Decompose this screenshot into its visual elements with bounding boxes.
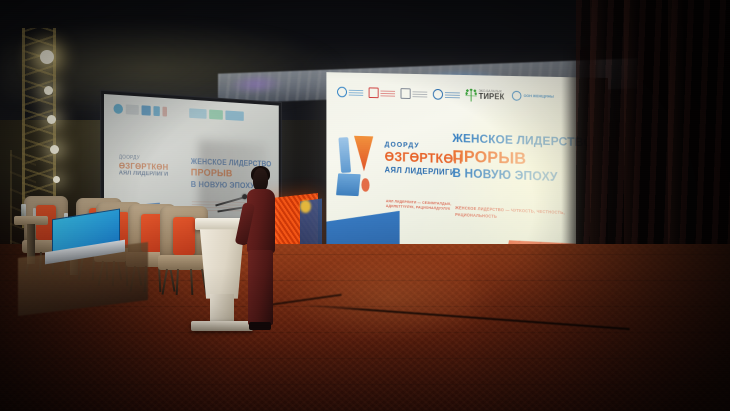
tirek-leaf-icon [465,89,476,102]
partner-grey-logo [401,88,428,99]
drape-violet-light [226,71,286,97]
stage-light-1 [40,50,54,64]
projected-logos-row [114,101,271,126]
banner-russian-slogan: ЖЕНСКОЕ ЛИДЕРСТВО — ЧУТКОСТЬ, ЧЕСТНОСТЬ,… [455,206,570,224]
stage-light-5 [53,176,60,183]
banner-kyrgyz-headline: ДООРДУ ӨЗГӨРТКӨН АЯЛ ЛИДЕРЛИГИ [385,141,457,177]
partner-red-logo [369,87,395,98]
un-women-logo: ООН ЖЕНЩИНЫ [512,91,554,102]
stage-light-4 [50,145,59,154]
projected-logo-fao [189,108,206,119]
projected-kyrgyz-block: ДООРДУ ӨЗГӨРТКӨН АЯЛ ЛИДЕРЛИГИ [119,155,188,179]
projected-logo-red [163,107,167,117]
fao-logo [433,89,460,100]
un-emblem-logo [337,86,363,97]
stage-light-3 [47,115,56,124]
projected-logo-un [114,104,123,115]
projected-logo-un-women [225,111,243,122]
projected-kg-line3: АЯЛ ЛИДЕРЛИГИ [119,170,188,178]
projected-logo-small [153,106,159,116]
projected-logo-blue-square [142,105,151,116]
tirek-label: ТИРЕК [479,93,505,101]
stage-light-2 [44,86,53,95]
un-women-label: ООН ЖЕНЩИНЫ [524,94,554,99]
banner-kyrgyz-slogan: АЯЛ ЛИДЕРЛИГИ — СЕЗИМТАЛДЫК, АДИЛЕТТҮҮЛҮ… [386,199,452,212]
tirek-logo: ЭКО-БАЛАЛЫК ТИРЕК [465,89,504,103]
conference-hall-photo: ДООРДУ ӨЗГӨРТКӨН АЯЛ ЛИДЕРЛИГИ ЖЕНСКОЕ Л… [0,0,730,411]
projected-logo-partner-grey [126,104,139,115]
speaker-at-podium [244,168,278,328]
projected-logo-tirek [209,110,223,120]
banner-kg-line3: АЯЛ ЛИДЕРЛИГИ [385,165,457,177]
forum-emblem-icon [336,135,379,201]
un-women-ring-icon [512,91,522,101]
yellow-light-spot [300,200,311,213]
